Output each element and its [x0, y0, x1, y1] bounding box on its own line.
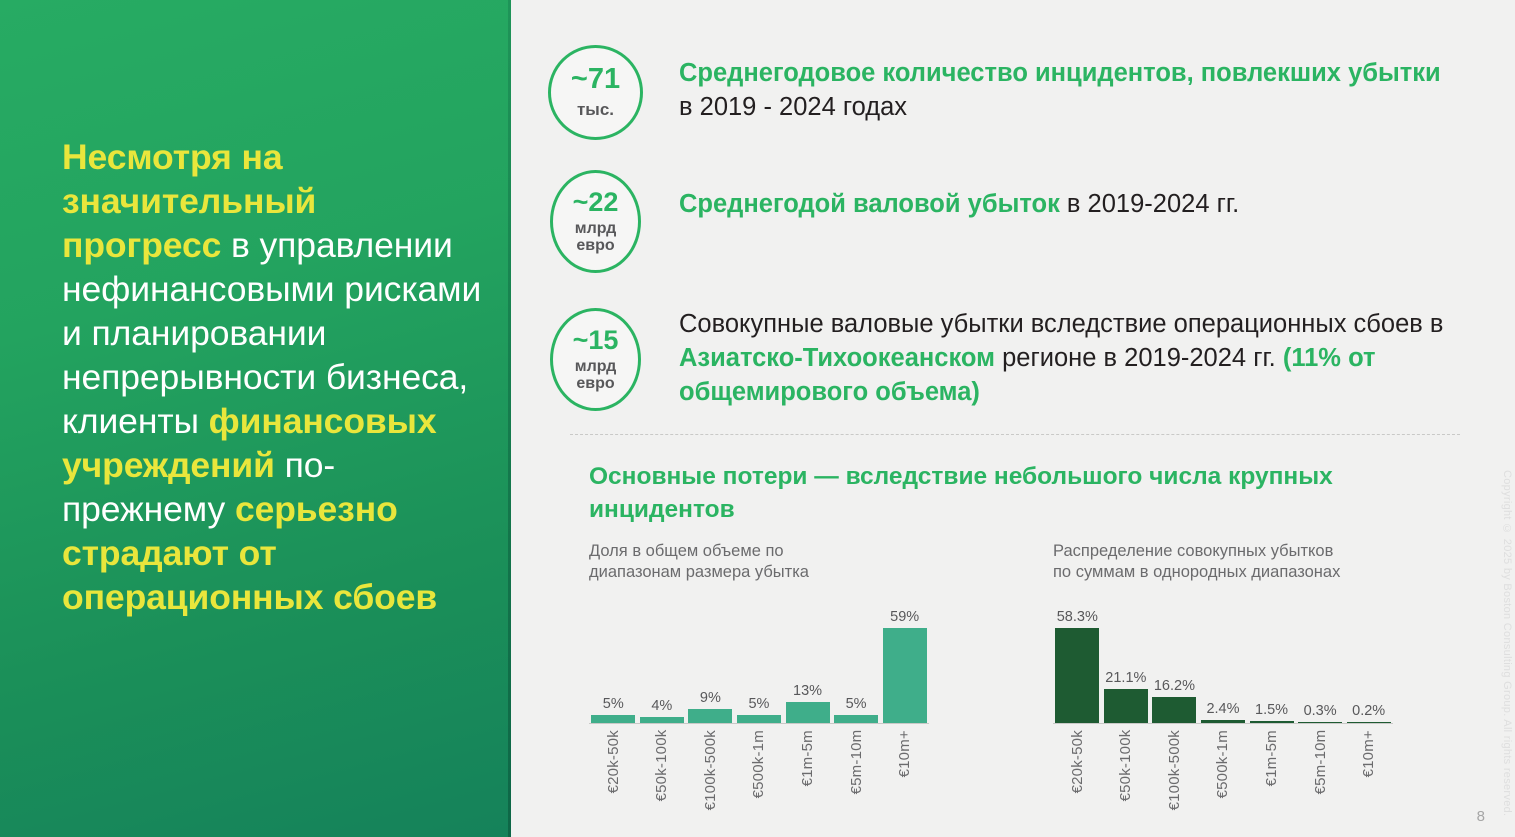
bar-value-label: 4%	[651, 698, 672, 714]
x-axis-label: €1m-5m	[1263, 730, 1280, 810]
bar-column: 59%	[880, 604, 929, 724]
x-label-cell: €500k-1m	[1199, 730, 1248, 810]
stat-bubble-annual-loss: ~22 млрд евро	[550, 170, 641, 273]
page-number: 8	[1477, 808, 1485, 825]
stat-text-annual-loss: Среднегодой валовой убыток в 2019-2024 г…	[679, 170, 1459, 222]
bar-column: 13%	[783, 604, 832, 724]
chart-distribution-by-amount: Распределение совокупных убытков по сумм…	[1053, 541, 1403, 810]
stat-text-plain-1: Совокупные валовые убытки вследствие опе…	[679, 310, 1443, 338]
left-green-panel: Несмотря на значительный прогресс в упра…	[0, 0, 511, 837]
stat-text-apac-loss: Совокупные валовые убытки вследствие опе…	[679, 308, 1474, 410]
bar-column: 5%	[832, 604, 881, 724]
x-label-cell: €100k-500k	[1150, 730, 1199, 810]
stat-bubble-incidents: ~71 тыс.	[548, 45, 643, 140]
x-label-cell: €20k-50k	[1053, 730, 1102, 810]
x-axis-label: €50k-100k	[1117, 730, 1134, 810]
chart-caption: Распределение совокупных убытков по сумм…	[1053, 541, 1403, 584]
x-label-cell: €20k-50k	[589, 730, 638, 810]
bar-value-label: 21.1%	[1105, 670, 1146, 686]
chart-baseline	[589, 723, 929, 724]
chart-caption: Доля в общем объеме по диапазонам размер…	[589, 541, 939, 584]
bar-value-label: 5%	[748, 696, 769, 712]
chart-plot-area: 58.3%21.1%16.2%2.4%1.5%0.3%0.2%	[1053, 604, 1403, 724]
x-axis-label: €5m-10m	[848, 730, 865, 810]
bar	[1055, 628, 1099, 724]
bar	[1104, 689, 1148, 724]
chart-x-axis-labels: €20k-50k€50k-100k€100k-500k€500k-1m€1m-5…	[589, 730, 939, 810]
bar-series: 5%4%9%5%13%5%59%	[589, 604, 939, 724]
bar-value-label: 5%	[603, 696, 624, 712]
x-axis-label: €100k-500k	[702, 730, 719, 810]
bar-value-label: 0.3%	[1304, 703, 1337, 719]
copyright-notice: Copyright © 2025 by Boston Consulting Gr…	[1501, 470, 1513, 816]
bar-column: 0.3%	[1296, 604, 1345, 724]
bar-value-label: 16.2%	[1154, 678, 1195, 694]
bar	[1152, 697, 1196, 724]
chart-baseline	[1053, 723, 1393, 724]
x-label-cell: €5m-10m	[832, 730, 881, 810]
x-label-cell: €10m+	[1344, 730, 1393, 810]
bar-column: 16.2%	[1150, 604, 1199, 724]
x-label-cell: €50k-100k	[1102, 730, 1151, 810]
x-label-cell: €1m-5m	[783, 730, 832, 810]
bar-column: 2.4%	[1199, 604, 1248, 724]
bar-value-label: 1.5%	[1255, 702, 1288, 718]
stat-text-green-1: Азиатско-Тихоокеанском	[679, 344, 995, 372]
stat-text-plain: в 2019-2024 гг.	[1060, 190, 1239, 218]
section-divider	[570, 434, 1460, 435]
x-label-cell: €50k-100k	[638, 730, 687, 810]
stat-text-plain: в 2019 - 2024 годах	[679, 93, 907, 121]
bar-column: 58.3%	[1053, 604, 1102, 724]
x-axis-label: €500k-1m	[750, 730, 767, 810]
chart-x-axis-labels: €20k-50k€50k-100k€100k-500k€500k-1m€1m-5…	[1053, 730, 1403, 810]
x-axis-label: €10m+	[1360, 730, 1377, 810]
x-axis-label: €1m-5m	[799, 730, 816, 810]
x-axis-label: €20k-50k	[605, 730, 622, 810]
bar	[786, 702, 830, 723]
x-axis-label: €500k-1m	[1214, 730, 1231, 810]
stat-number: ~71	[571, 65, 620, 94]
stat-row-annual-loss: ~22 млрд евро Среднегодой валовой убыток…	[550, 170, 1480, 273]
bar-column: 1.5%	[1247, 604, 1296, 724]
stat-row-incidents: ~71 тыс. Среднегодовое количество инциде…	[548, 45, 1478, 140]
stat-text-incidents: Среднегодовое количество инцидентов, пов…	[679, 45, 1459, 125]
slide: Несмотря на значительный прогресс в упра…	[0, 0, 1515, 837]
bar-value-label: 59%	[890, 609, 919, 625]
stat-unit: млрд евро	[575, 220, 617, 255]
bar-series: 58.3%21.1%16.2%2.4%1.5%0.3%0.2%	[1053, 604, 1403, 724]
x-axis-label: €5m-10m	[1312, 730, 1329, 810]
bar	[883, 628, 927, 724]
bar	[688, 709, 732, 724]
bar-column: 4%	[638, 604, 687, 724]
x-axis-label: €20k-50k	[1069, 730, 1086, 810]
bar-column: 5%	[735, 604, 784, 724]
bar-value-label: 58.3%	[1057, 609, 1098, 625]
x-label-cell: €500k-1m	[735, 730, 784, 810]
section-title: Основные потери — вследствие небольшого …	[589, 461, 1464, 526]
stat-text-plain-2: регионе в 2019-2024 гг.	[995, 344, 1283, 372]
bar-value-label: 0.2%	[1352, 703, 1385, 719]
chart-plot-area: 5%4%9%5%13%5%59%	[589, 604, 939, 724]
bar-value-label: 2.4%	[1206, 701, 1239, 717]
bar-column: 21.1%	[1102, 604, 1151, 724]
stat-row-apac-loss: ~15 млрд евро Совокупные валовые убытки …	[550, 308, 1510, 411]
bar-value-label: 9%	[700, 690, 721, 706]
stat-number: ~15	[573, 327, 619, 354]
bar-value-label: 13%	[793, 683, 822, 699]
headline: Несмотря на значительный прогресс в упра…	[62, 135, 482, 619]
stat-unit: млрд евро	[575, 358, 617, 393]
bar-column: 5%	[589, 604, 638, 724]
stat-number: ~22	[573, 189, 619, 216]
stat-text-green: Среднегодовое количество инцидентов, пов…	[679, 59, 1441, 87]
x-axis-label: €50k-100k	[653, 730, 670, 810]
stat-text-green: Среднегодой валовой убыток	[679, 190, 1060, 218]
x-label-cell: €10m+	[880, 730, 929, 810]
x-label-cell: €1m-5m	[1247, 730, 1296, 810]
stat-unit: тыс.	[577, 101, 614, 119]
bar-column: 9%	[686, 604, 735, 724]
bar-value-label: 5%	[846, 696, 867, 712]
x-label-cell: €100k-500k	[686, 730, 735, 810]
x-label-cell: €5m-10m	[1296, 730, 1345, 810]
x-axis-label: €100k-500k	[1166, 730, 1183, 810]
chart-share-by-loss-size: Доля в общем объеме по диапазонам размер…	[589, 541, 939, 810]
stat-bubble-apac-loss: ~15 млрд евро	[550, 308, 641, 411]
x-axis-label: €10m+	[896, 730, 913, 810]
bar-column: 0.2%	[1344, 604, 1393, 724]
